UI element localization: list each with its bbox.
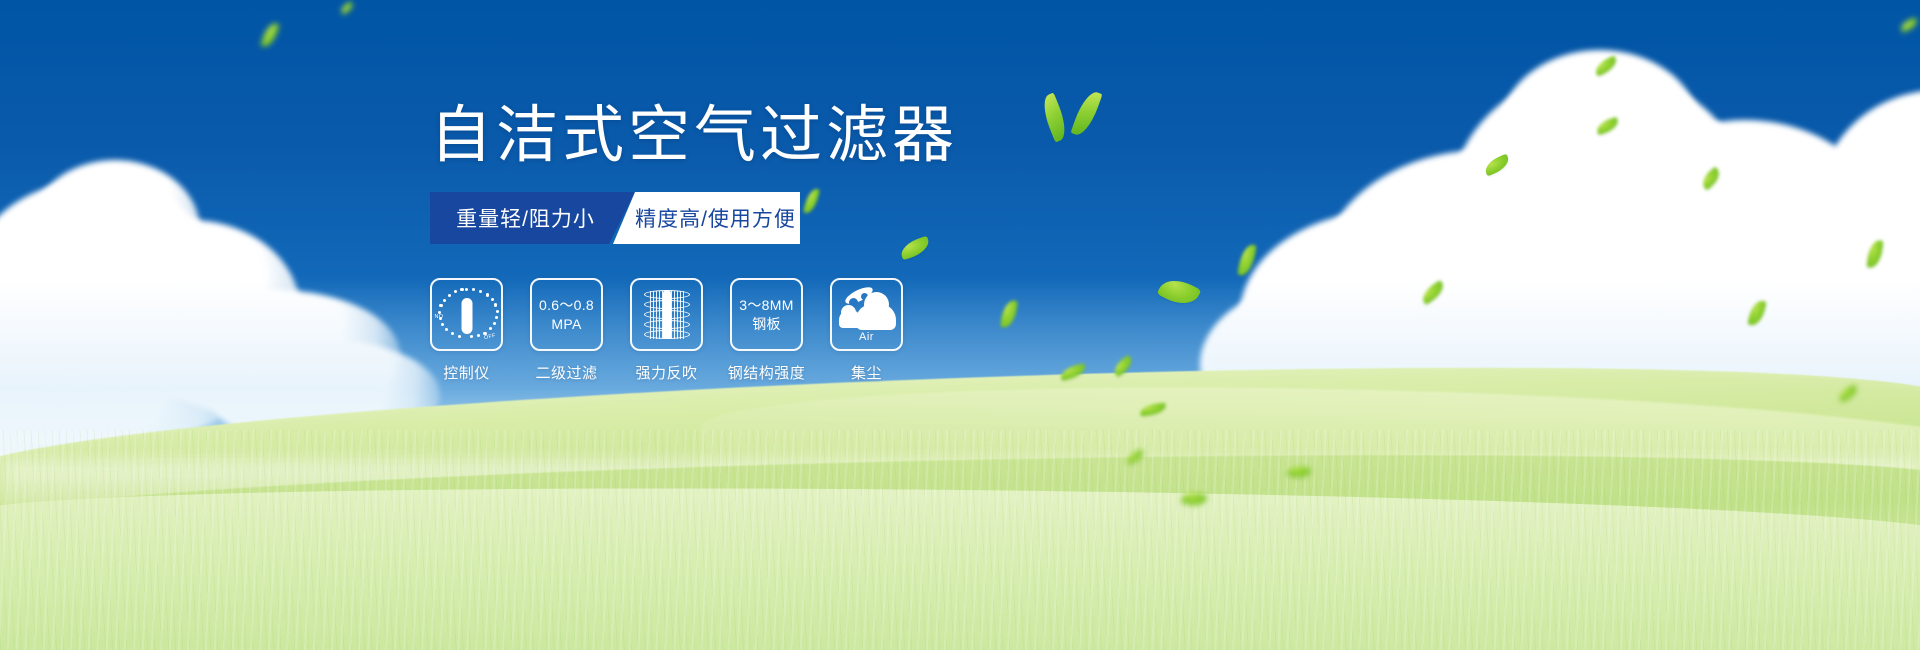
feature-icon-box	[630, 278, 703, 351]
feature-icon-box: 3～8MM 钢板	[730, 278, 803, 351]
sprout-leaves-icon	[1042, 88, 1112, 144]
feature-icon-box: 0.6～0.8 MPA	[530, 278, 603, 351]
steel-thickness: 3～8MM	[739, 296, 793, 315]
gauge-icon: NO OFF	[436, 284, 498, 346]
banner-content: 自洁式空气过滤器 重量轻/阻力小 精度高/使用方便	[430, 104, 1190, 383]
feature-item-dust-collection[interactable]: Air 集尘	[830, 278, 903, 383]
leaf-icon	[1867, 239, 1884, 268]
feature-item-steel-strength[interactable]: 3～8MM 钢板 钢结构强度	[730, 278, 803, 383]
feature-item-two-stage-filter[interactable]: 0.6～0.8 MPA 二级过滤	[530, 278, 603, 383]
feature-label: 二级过滤	[535, 362, 597, 383]
feature-label: 控制仪	[443, 362, 490, 383]
leaf-icon	[1899, 17, 1919, 33]
feature-item-reverse-blow[interactable]: 强力反吹	[630, 278, 703, 383]
feature-label: 集尘	[851, 362, 882, 383]
gauge-label-no: NO	[435, 314, 444, 320]
pressure-range: 0.6～0.8	[539, 296, 594, 315]
leaf-icon	[1419, 280, 1448, 305]
steel-material: 钢板	[739, 315, 793, 334]
tagline-tab-1[interactable]: 重量轻/阻力小	[430, 192, 635, 244]
pressure-unit: MPA	[539, 315, 594, 334]
feature-icon-box: Air	[830, 278, 903, 351]
cloud-air-icon: Air	[837, 289, 897, 341]
feature-icon-row: NO OFF 控制仪 0.6～0.8 MPA 二级过滤	[430, 278, 1190, 383]
grass-field-near	[0, 480, 1920, 650]
steel-plate-icon: 3～8MM 钢板	[739, 296, 793, 334]
leaf-icon	[1593, 55, 1620, 76]
feature-item-control-meter[interactable]: NO OFF 控制仪	[430, 278, 503, 383]
leaf-icon	[1482, 154, 1511, 177]
pressure-icon: 0.6～0.8 MPA	[539, 296, 594, 334]
product-hero-banner: 自洁式空气过滤器 重量轻/阻力小 精度高/使用方便	[0, 0, 1920, 650]
leaf-icon	[1698, 166, 1723, 190]
leaf-icon	[1595, 117, 1621, 136]
leaf-icon	[1237, 243, 1256, 277]
feature-label: 强力反吹	[635, 362, 697, 383]
leaf-icon	[1747, 299, 1766, 327]
tagline-tab-2[interactable]: 精度高/使用方便	[613, 192, 800, 244]
leaf-icon	[339, 1, 355, 15]
feature-label: 钢结构强度	[728, 362, 806, 383]
feature-icon-box: NO OFF	[430, 278, 503, 351]
leaf-icon	[260, 21, 279, 49]
air-label: Air	[837, 331, 897, 343]
feature-tagline-tabs: 重量轻/阻力小 精度高/使用方便	[430, 192, 822, 244]
cartridge-icon	[643, 289, 691, 341]
